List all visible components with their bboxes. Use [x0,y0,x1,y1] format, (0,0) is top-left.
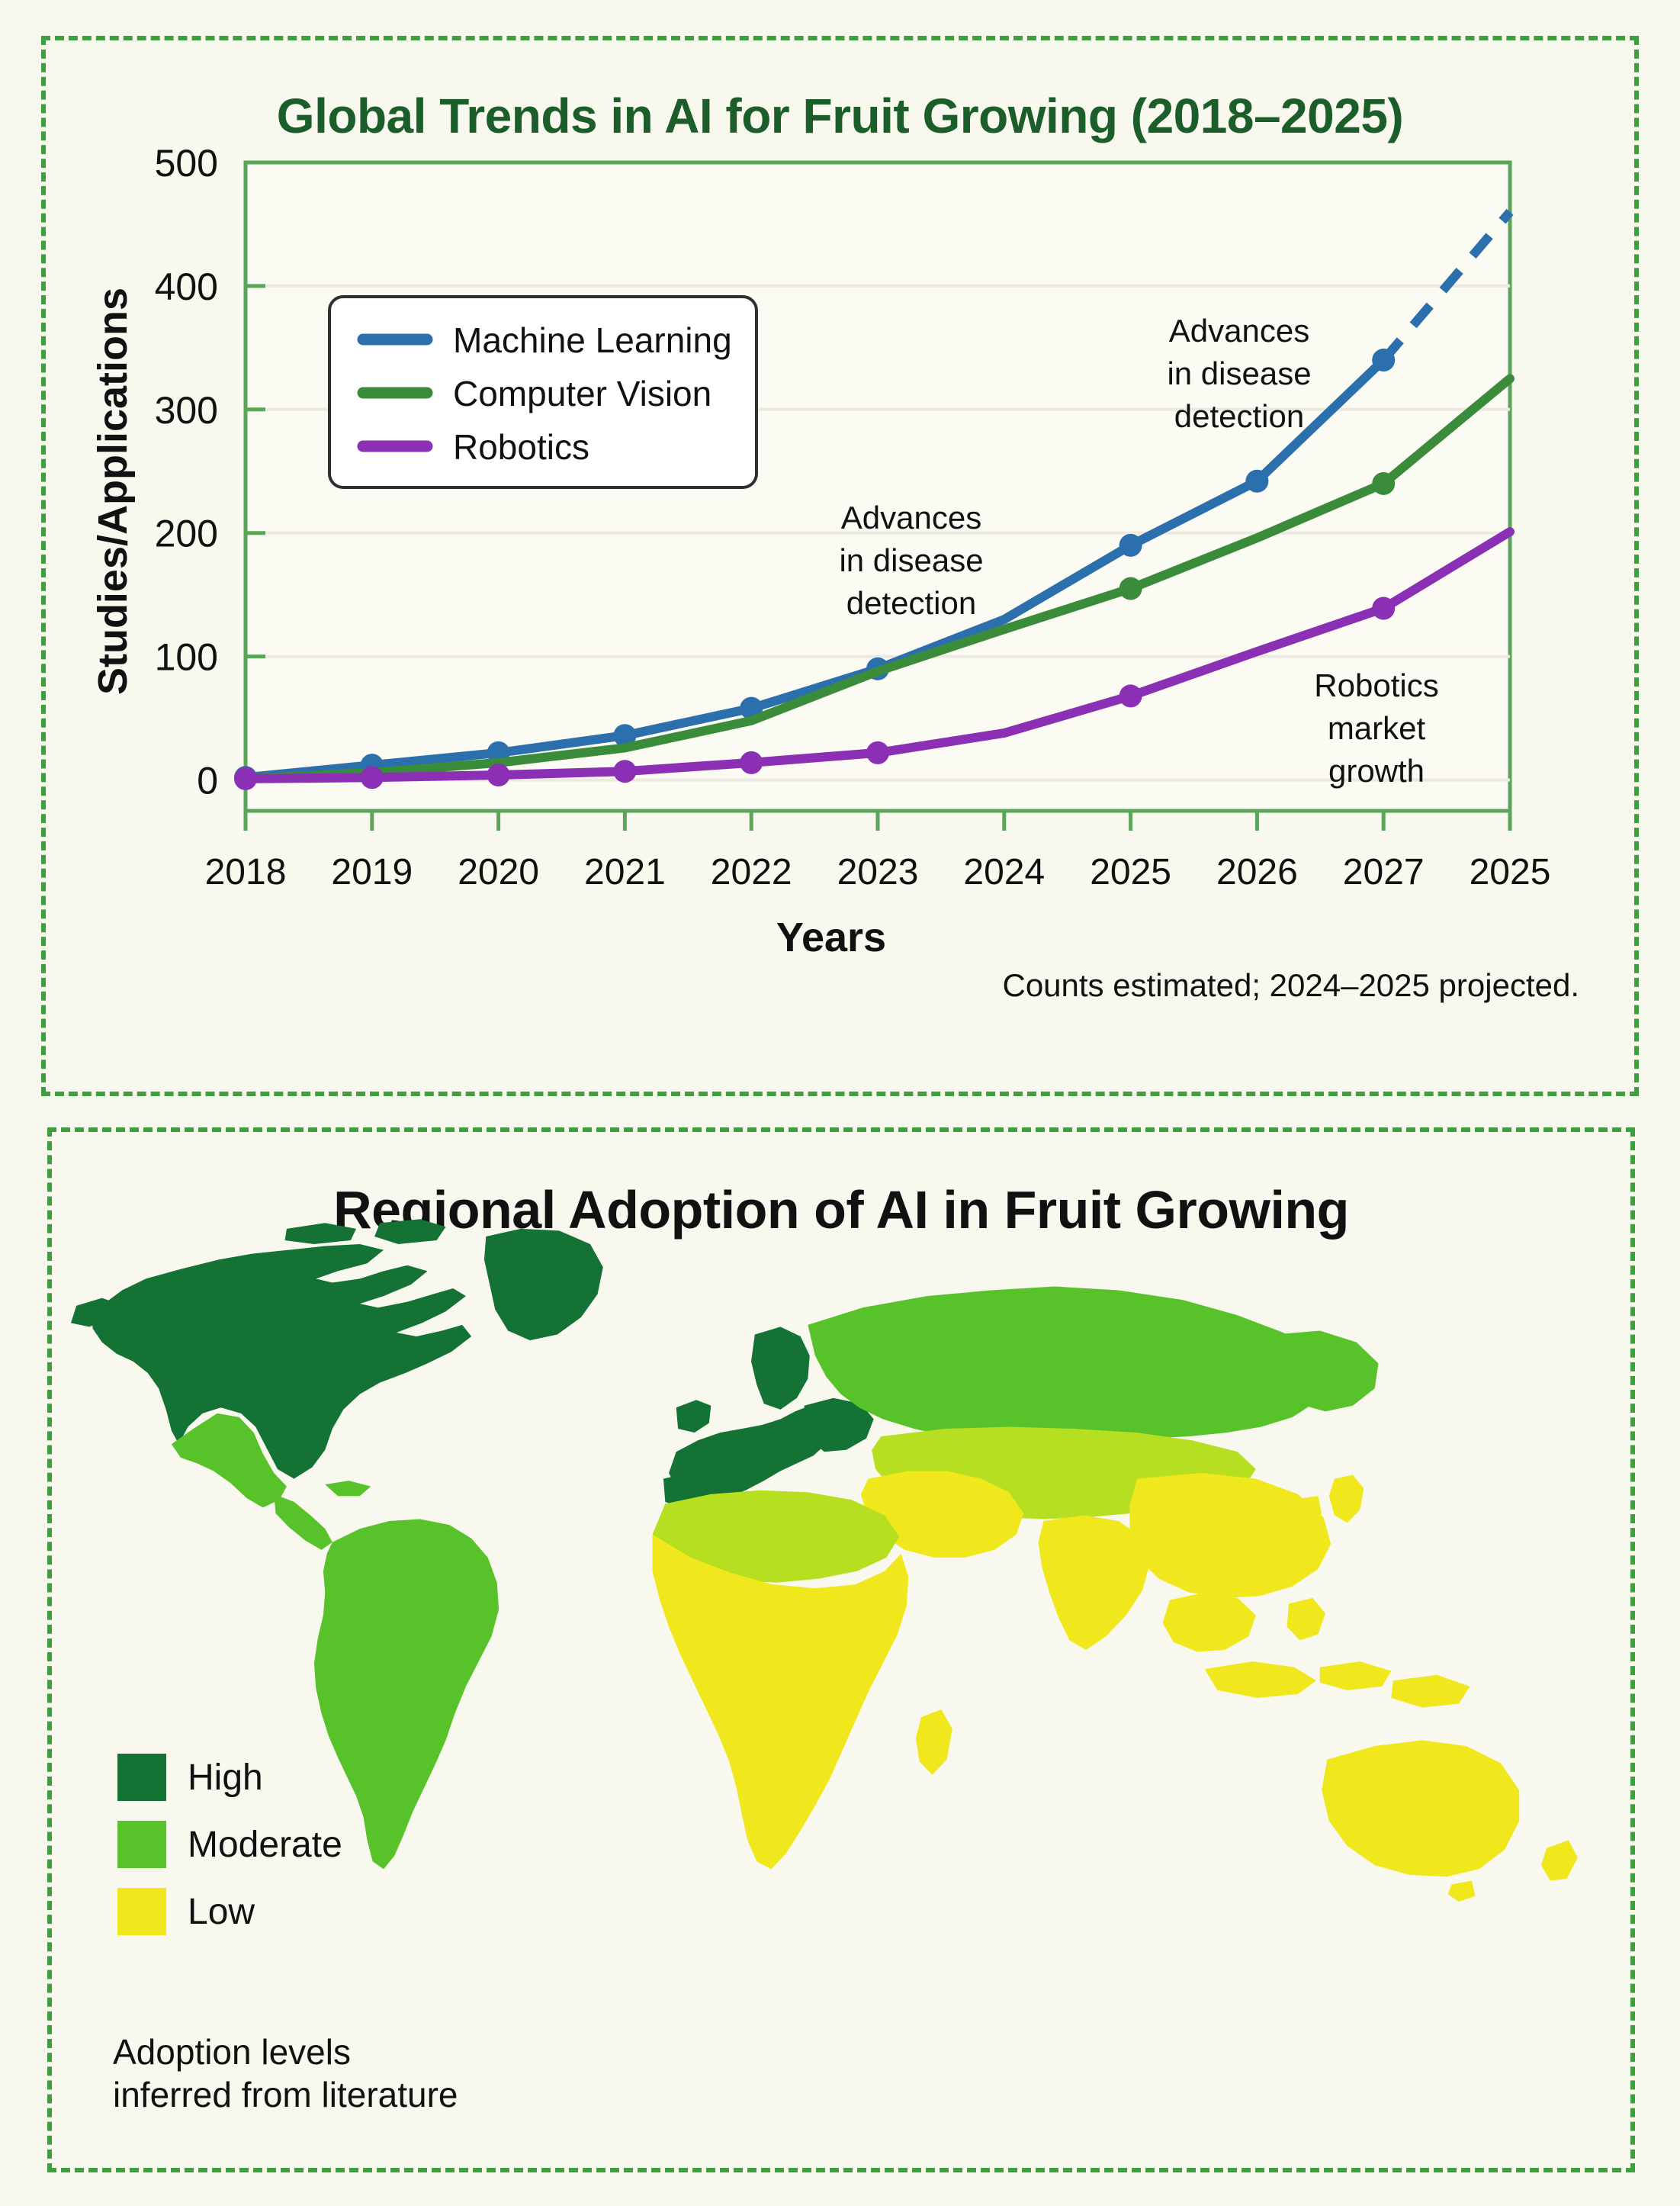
map-caption-line-1: Adoption levels [113,2031,458,2073]
map-region-arctic-isles-1 [285,1223,357,1244]
x-tick-label: 2027 [1343,852,1425,892]
map-region-philippines [1287,1598,1325,1640]
annotation-line: growth [1328,753,1425,789]
x-tick-label: 2024 [963,852,1045,892]
data-point [613,760,636,783]
map-caption-line-2: inferred from literature [113,2073,458,2116]
x-tick-label: 2021 [584,852,666,892]
map-region-north-america [91,1244,471,1479]
x-tick-label: 2025 [1090,852,1171,892]
map-region-papua-new-guinea [1391,1675,1470,1708]
legend-swatch-high [117,1754,166,1801]
y-tick-label: 500 [155,142,218,185]
data-point [1372,349,1395,371]
y-tick-label: 0 [197,760,218,802]
y-tick-label: 400 [155,265,218,308]
map-caption: Adoption levels inferred from literature [113,2031,458,2116]
x-tick-label: 2018 [205,852,287,892]
annotation-line: in disease [1167,355,1311,391]
data-point [1372,472,1395,495]
data-point [866,741,889,764]
map-region-indonesia-2 [1320,1661,1392,1690]
map-region-scandinavia [751,1326,810,1409]
map-region-new-zealand [1541,1841,1578,1881]
x-tick-label: 2020 [458,852,539,892]
y-tick-label: 100 [155,636,218,679]
y-tick-label: 200 [155,513,218,555]
annotation-line: Robotics [1314,667,1438,703]
map-legend: High Moderate Low [117,1754,342,1955]
legend-swatch-moderate [117,1821,166,1868]
map-region-tasmania [1448,1880,1476,1902]
data-point [1119,534,1142,557]
anno-disease-right: Advancesin diseasedetection [1167,313,1311,434]
anno-disease-mid: Advancesin diseasedetection [839,500,983,621]
legend-item-moderate: Moderate [117,1821,342,1868]
data-point [1119,577,1142,600]
legend-label: Computer Vision [453,374,712,413]
legend-label-moderate: Moderate [188,1824,342,1866]
annotation-line: market [1328,710,1426,746]
annotation-line: Advances [841,500,981,535]
data-point [234,767,257,790]
data-point [740,751,763,774]
map-region-china-east-asia [1129,1473,1331,1598]
x-tick-label: 2019 [331,852,413,892]
x-tick-label: 2022 [711,852,792,892]
data-point [361,766,384,789]
annotation-line: in disease [839,542,983,578]
map-region-africa-main [653,1535,909,1870]
map-region-australia [1322,1740,1519,1876]
line-chart: 0100200300400500201820192020202120222023… [46,40,1634,1101]
x-tick-label: 2023 [837,852,919,892]
trends-panel: Global Trends in AI for Fruit Growing (2… [41,36,1639,1096]
annotation-line: detection [846,585,976,621]
map-region-india [1038,1515,1149,1649]
world-map [52,1132,1630,2168]
map-region-southeast-asia [1163,1592,1256,1651]
map-region-central-america [274,1494,332,1550]
legend-item-high: High [117,1754,342,1801]
map-region-madagascar [916,1709,952,1775]
data-point [487,764,510,786]
map-region-russia-north [808,1286,1325,1442]
map-region-arctic-isles-2 [374,1219,446,1244]
map-panel: Regional Adoption of AI in Fruit Growing… [47,1127,1635,2172]
legend-label-low: Low [188,1891,255,1933]
infographic-page: Global Trends in AI for Fruit Growing (2… [0,0,1680,2206]
legend-item-low: Low [117,1888,342,1935]
data-point [1372,597,1395,619]
y-tick-label: 300 [155,389,218,432]
annotation-line: Advances [1169,313,1309,349]
legend-swatch-low [117,1888,166,1935]
map-region-uk-ireland [676,1400,712,1433]
map-region-indonesia-1 [1205,1661,1316,1698]
x-tick-label: 2025 [1470,852,1551,892]
map-region-greenland [484,1229,603,1340]
map-region-caribbean [325,1481,371,1496]
chart-legend: Machine LearningComputer VisionRobotics [329,297,756,487]
map-region-japan [1329,1475,1364,1523]
x-tick-label: 2026 [1216,852,1298,892]
legend-label-high: High [188,1757,263,1799]
legend-label: Machine Learning [453,320,732,360]
data-point [1119,684,1142,707]
legend-label: Robotics [453,427,589,467]
anno-robotics: Roboticsmarketgrowth [1314,667,1438,789]
data-point [1245,470,1268,493]
annotation-line: detection [1174,398,1304,434]
